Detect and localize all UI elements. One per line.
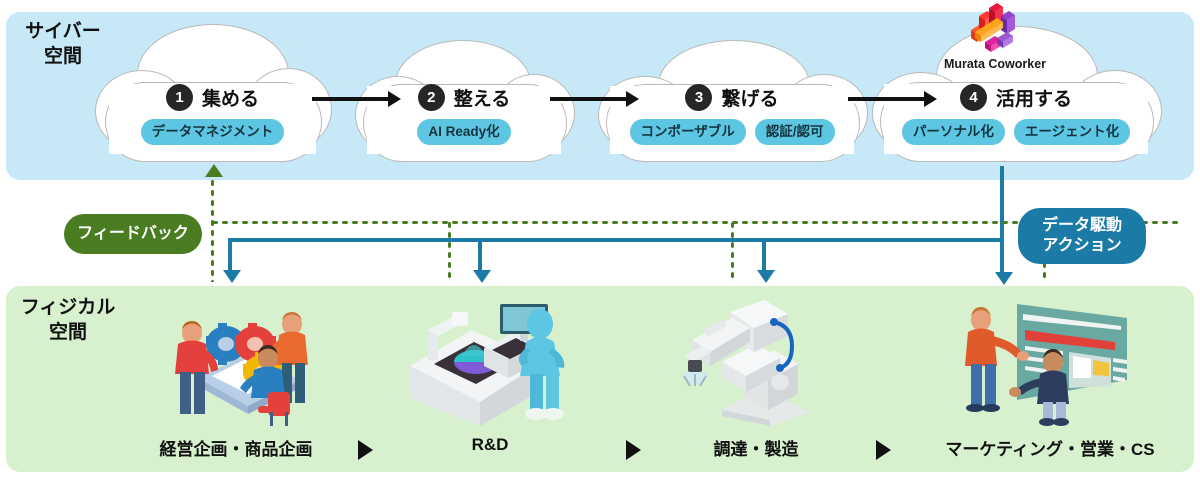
step-4-number: 4 <box>960 84 987 111</box>
pill-agentification[interactable]: エージェント化 <box>1014 119 1130 145</box>
step-1-title: 集める <box>202 84 259 111</box>
planning-meeting-illustration <box>140 296 330 426</box>
step-4-title: 活用する <box>996 84 1072 111</box>
monitor-stand <box>520 334 528 341</box>
action-branch-1-arrowhead <box>223 270 241 283</box>
step-1-number: 1 <box>166 84 193 111</box>
flow-arrow-1-to-2 <box>312 97 390 101</box>
separator-triangle-3 <box>876 440 891 460</box>
murata-coworker-logo <box>963 2 1019 56</box>
logo-bar-purple <box>1001 11 1015 34</box>
diagram-canvas: サイバー 空間 フィジカル 空間 1 集める データマネジメント 2 整える A… <box>0 0 1200 480</box>
feedback-branch-3 <box>730 220 735 282</box>
step-3-title: 繋げる <box>721 84 778 111</box>
step-3-pills: コンポーザブル 認証/認可 <box>598 119 866 145</box>
flow-arrow-3-to-4 <box>848 97 926 101</box>
data-driven-action-tag[interactable]: データ駆動 アクション <box>1018 208 1146 264</box>
physical-space-title: フィジカル 空間 <box>10 296 126 345</box>
logo-bar-violet <box>997 32 1013 48</box>
separator-triangle-1 <box>358 440 373 460</box>
step-1-pills: データマネジメント <box>95 119 330 145</box>
action-trunk-arrowhead <box>995 272 1013 285</box>
dashboard-presentation-illustration <box>955 296 1145 426</box>
domain-label-planning: 経営企画・商品企画 <box>128 435 344 460</box>
domain-label-rnd: R&D <box>410 435 570 455</box>
step-2-title: 整える <box>454 84 510 111</box>
pill-personalization[interactable]: パーソナル化 <box>902 119 1005 145</box>
pill-composable[interactable]: コンポーザブル <box>630 119 746 145</box>
action-branch-2 <box>478 238 482 274</box>
action-branch-1 <box>228 238 232 274</box>
step-4-pills: パーソナル化 エージェント化 <box>872 119 1160 145</box>
pill-ai-ready[interactable]: AI Ready化 <box>417 119 510 145</box>
step-2-number: 2 <box>418 84 445 111</box>
chair-seat <box>258 406 288 413</box>
separator-triangle-2 <box>626 440 641 460</box>
pill-data-management[interactable]: データマネジメント <box>141 119 285 145</box>
pill-auth[interactable]: 認証/認可 <box>755 119 835 145</box>
action-branch-2-arrowhead <box>473 270 491 283</box>
robot-arm-illustration <box>670 300 840 426</box>
lab-equipment-illustration <box>400 300 580 426</box>
action-branch-3 <box>762 238 766 274</box>
step-2-pills: AI Ready化 <box>355 119 573 145</box>
action-bus-horizontal <box>228 238 1004 242</box>
gripper-mount <box>688 360 702 372</box>
murata-coworker-label: Murata Coworker <box>920 57 1070 71</box>
feedback-trunk-arrowhead <box>205 164 223 177</box>
feedback-branch-2 <box>447 220 452 282</box>
flow-arrow-2-to-3 <box>550 97 628 101</box>
feedback-tag[interactable]: フィードバック <box>64 214 202 254</box>
step-1-header: 1 集める <box>95 84 330 111</box>
joint-hub <box>771 374 789 390</box>
arm-head <box>452 312 468 326</box>
feedback-trunk-vertical <box>210 178 215 282</box>
step-3-number: 3 <box>685 84 712 111</box>
domain-label-manufacturing: 調達・製造 <box>672 435 840 460</box>
domain-label-marketing: マーケティング・営業・CS <box>918 435 1182 460</box>
action-branch-3-arrowhead <box>757 270 775 283</box>
